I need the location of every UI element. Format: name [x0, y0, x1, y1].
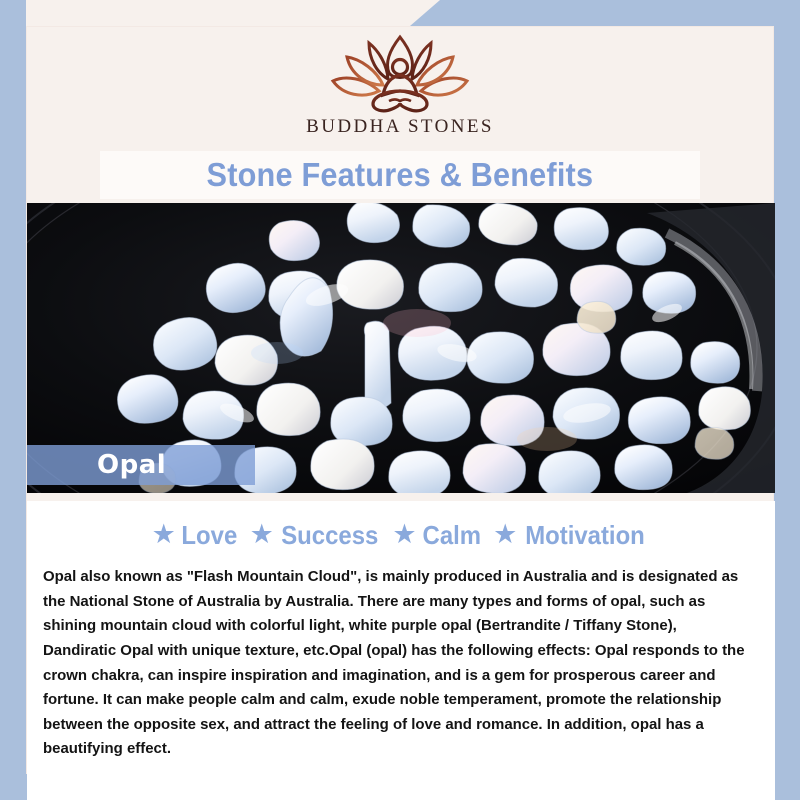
description-card: ★ Love ★ Success ★ Calm ★ Motivation Opa…: [27, 501, 775, 800]
left-blue-edge: [0, 0, 26, 800]
benefit-item-calm: ★ Calm: [392, 520, 483, 551]
benefit-item-love: ★ Love: [152, 520, 240, 551]
benefit-item-success: ★ Success: [250, 520, 383, 551]
stone-name-tag: Opal: [27, 445, 255, 485]
description-paragraph: Opal also known as "Flash Mountain Cloud…: [43, 565, 748, 762]
right-blue-edge: [774, 0, 800, 800]
benefit-item-motivation: ★ Motivation: [493, 520, 650, 551]
benefits-row: ★ Love ★ Success ★ Calm ★ Motivation: [43, 515, 759, 555]
lotus-meditation-icon: [325, 33, 475, 115]
star-icon: ★: [493, 521, 517, 548]
stone-name-label: Opal: [97, 450, 166, 480]
star-icon: ★: [152, 521, 176, 548]
brand-name: BUDDHA STONES: [306, 116, 494, 138]
title-banner: Stone Features & Benefits: [100, 151, 700, 199]
brand-logo-block: BUDDHA STONES: [27, 27, 773, 147]
benefit-label: Love: [181, 520, 237, 551]
top-right-blue-wedge: [410, 0, 800, 26]
page-title: Stone Features & Benefits: [207, 156, 594, 194]
benefit-label: Success: [281, 520, 378, 551]
benefit-label: Motivation: [526, 520, 646, 551]
star-icon: ★: [250, 521, 274, 548]
product-photo: Opal: [27, 203, 775, 493]
star-icon: ★: [392, 521, 416, 548]
inner-panel: BUDDHA STONES Stone Features & Benefits: [26, 26, 774, 774]
benefit-label: Calm: [422, 520, 480, 551]
infographic-page: BUDDHA STONES Stone Features & Benefits: [0, 0, 800, 800]
